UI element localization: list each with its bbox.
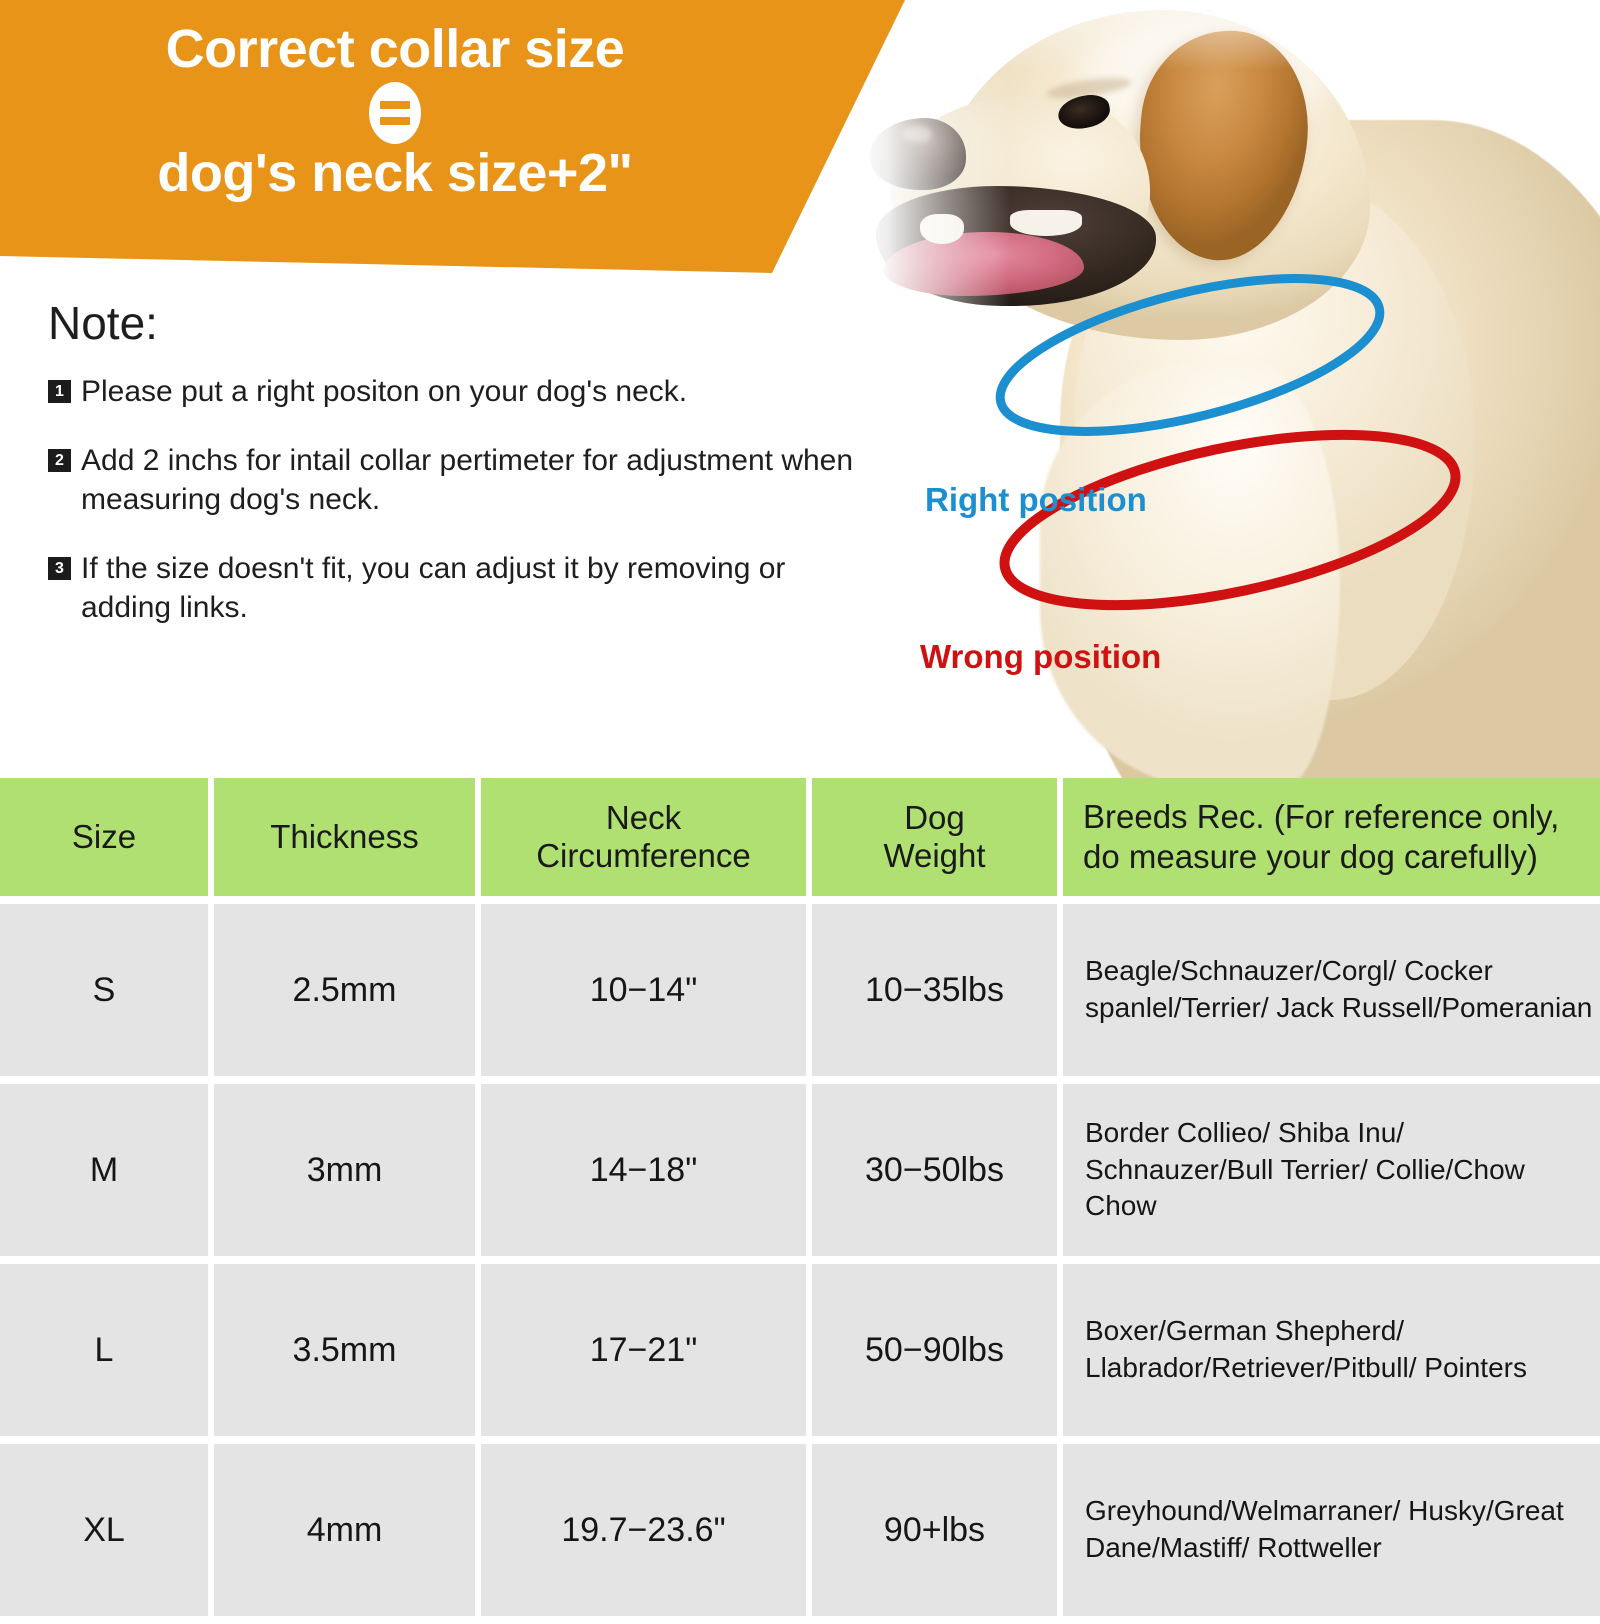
- column-header-thickness: Thickness: [214, 778, 475, 896]
- cell-neck: 14−18": [481, 1084, 806, 1256]
- cell-neck: 19.7−23.6": [481, 1444, 806, 1616]
- column-header-neck-circumference: Neck Circumference: [481, 778, 806, 896]
- table-row: XL 4mm 19.7−23.6" 90+lbs Greyhound/Welma…: [0, 1444, 1600, 1616]
- note-text-3: If the size doesn't fit, you can adjust …: [81, 549, 878, 627]
- column-header-neck-line2: Circumference: [536, 837, 751, 874]
- dog-lower-teeth: [1010, 210, 1082, 236]
- column-header-weight-line2: Weight: [883, 837, 985, 874]
- dog-upper-teeth: [920, 214, 964, 244]
- wrong-position-label: Wrong position: [920, 638, 1161, 676]
- cell-thickness: 4mm: [214, 1444, 475, 1616]
- table-row: S 2.5mm 10−14" 10−35lbs Beagle/Schnauzer…: [0, 904, 1600, 1076]
- cell-size: S: [0, 904, 208, 1076]
- cell-thickness: 2.5mm: [214, 904, 475, 1076]
- column-header-neck-line1: Neck: [606, 799, 681, 836]
- cell-thickness: 3.5mm: [214, 1264, 475, 1436]
- cell-breeds: Greyhound/Welmarraner/ Husky/Great Dane/…: [1063, 1444, 1600, 1616]
- column-header-breeds: Breeds Rec. (For reference only, do meas…: [1063, 778, 1600, 896]
- header-banner: [0, 0, 920, 290]
- table-header-row: Size Thickness Neck Circumference Dog We…: [0, 778, 1600, 896]
- note-text-2: Add 2 inchs for intail collar pertimeter…: [81, 441, 878, 519]
- dog-chest-ruff-shape: [1040, 360, 1340, 790]
- banner-shape: [0, 0, 920, 290]
- cell-breeds: Beagle/Schnauzer/Corgl/ Cocker spanlel/T…: [1063, 904, 1600, 1076]
- column-header-weight-line1: Dog: [904, 799, 965, 836]
- cell-breeds: Border Collieo/ Shiba Inu/ Schnauzer/Bul…: [1063, 1084, 1600, 1256]
- cell-size: L: [0, 1264, 208, 1436]
- cell-weight: 30−50lbs: [812, 1084, 1057, 1256]
- cell-neck: 17−21": [481, 1264, 806, 1436]
- cell-neck: 10−14": [481, 904, 806, 1076]
- cell-size: XL: [0, 1444, 208, 1616]
- note-marker-1-icon: 1: [48, 380, 71, 403]
- column-header-dog-weight: Dog Weight: [812, 778, 1057, 896]
- column-header-size: Size: [0, 778, 208, 896]
- cell-thickness: 3mm: [214, 1084, 475, 1256]
- table-row: L 3.5mm 17−21" 50−90lbs Boxer/German She…: [0, 1264, 1600, 1436]
- note-item-3: 3 If the size doesn't fit, you can adjus…: [48, 549, 878, 627]
- table-row: M 3mm 14−18" 30−50lbs Border Collieo/ Sh…: [0, 1084, 1600, 1256]
- right-position-label: Right position: [925, 481, 1147, 519]
- note-marker-3-icon: 3: [48, 557, 71, 580]
- size-chart-table: Size Thickness Neck Circumference Dog We…: [0, 770, 1600, 1624]
- cell-size: M: [0, 1084, 208, 1256]
- cell-breeds: Boxer/German Shepherd/ Llabrador/Retriev…: [1063, 1264, 1600, 1436]
- cell-weight: 90+lbs: [812, 1444, 1057, 1616]
- cell-weight: 10−35lbs: [812, 904, 1057, 1076]
- note-text-1: Please put a right positon on your dog's…: [81, 372, 687, 411]
- note-item-1: 1 Please put a right positon on your dog…: [48, 372, 878, 411]
- note-marker-2-icon: 2: [48, 449, 71, 472]
- note-title: Note:: [48, 300, 878, 346]
- note-section: Note: 1 Please put a right positon on yo…: [48, 300, 878, 657]
- cell-weight: 50−90lbs: [812, 1264, 1057, 1436]
- note-item-2: 2 Add 2 inchs for intail collar pertimet…: [48, 441, 878, 519]
